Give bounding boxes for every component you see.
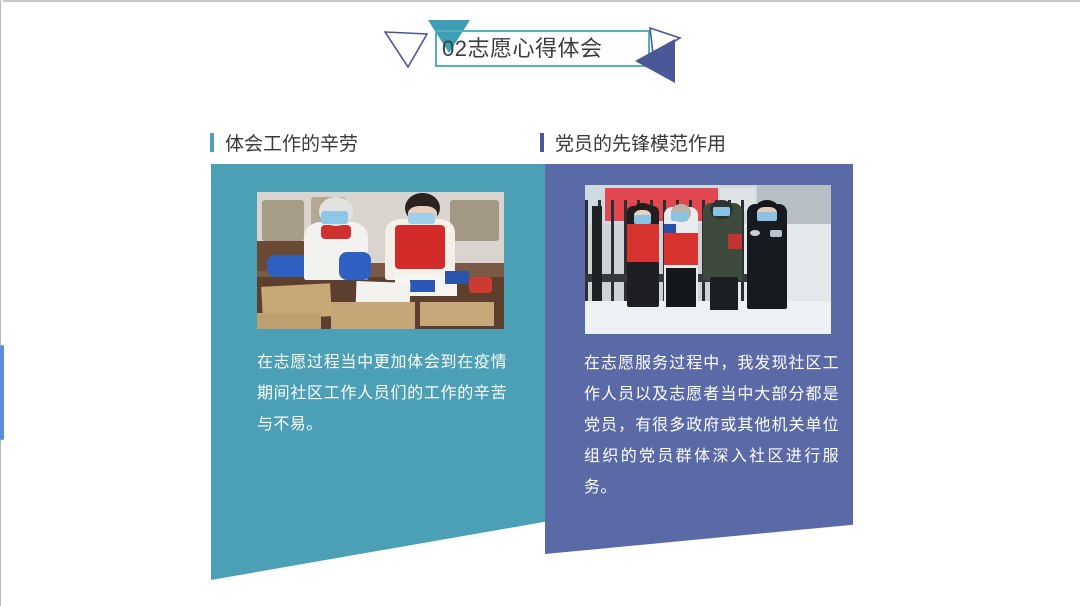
photo-right-officer-badge <box>750 230 760 236</box>
photo-right-snow-ground <box>585 301 831 334</box>
triangle-outline-left-icon <box>384 30 428 68</box>
photo-right-person-legs <box>710 277 737 310</box>
photo-left <box>257 192 504 329</box>
photo-left-document <box>331 302 415 329</box>
photo-left-person-mask <box>408 213 435 224</box>
column-heading-right-label: 党员的先锋模范作用 <box>555 129 726 156</box>
column-heading-left: 体会工作的辛劳 <box>210 129 358 156</box>
photo-right-officer-mask <box>757 212 777 221</box>
photo-right-person-mask <box>634 215 651 224</box>
photo-right-person-legs <box>666 268 696 307</box>
photo-left-object <box>469 277 491 293</box>
content-panel-right: 在志愿服务过程中，我发现社区工作人员以及志愿者当中大部分都是党员，有很多政府或其… <box>545 164 853 554</box>
photo-left-chair <box>262 200 304 241</box>
content-panel-left: 在志愿过程当中更加体会到在疫情期间社区工作人员们的工作的辛苦与不易。 <box>211 164 545 580</box>
photo-left-chair <box>450 200 499 241</box>
photo-left-document <box>410 280 435 292</box>
photo-right-person-mask <box>671 212 688 221</box>
body-text-right: 在志愿服务过程中，我发现社区工作人员以及志愿者当中大部分都是党员，有很多政府或其… <box>584 348 839 503</box>
window-top-edge <box>0 0 1080 2</box>
photo-left-document <box>257 313 321 329</box>
photo-left-person-vest <box>395 225 444 269</box>
photo-right-person-vest <box>664 233 698 266</box>
scrollbar-thumb[interactable] <box>0 345 4 440</box>
photo-right-person-armband <box>728 234 743 249</box>
photo-left-person-jacket-accent <box>321 225 351 239</box>
column-heading-right: 党员的先锋模范作用 <box>540 129 726 156</box>
slide-canvas: 02志愿心得体会 体会工作的辛劳 党员的先锋模范作用 <box>0 0 1080 606</box>
photo-right-officer-badge <box>770 230 782 237</box>
heading-accent-bar-left <box>210 133 214 152</box>
column-heading-left-label: 体会工作的辛劳 <box>225 129 358 156</box>
photo-left-document <box>420 302 494 327</box>
body-text-left: 在志愿过程当中更加体会到在疫情期间社区工作人员们的工作的辛苦与不易。 <box>257 347 507 440</box>
slide-header: 02志愿心得体会 <box>380 8 700 80</box>
heading-accent-bar-right <box>540 133 544 152</box>
photo-left-person-arm <box>339 252 371 279</box>
photo-left-document <box>445 271 470 283</box>
photo-right-person-vest <box>627 224 659 263</box>
photo-right-person-mask <box>713 207 730 216</box>
photo-right-fence-post <box>592 206 602 304</box>
triangle-solid-left-icon <box>635 39 675 83</box>
page-title: 02志愿心得体会 <box>442 35 652 63</box>
window-left-edge <box>0 0 3 606</box>
photo-right <box>585 185 831 334</box>
photo-left-person-mask <box>321 211 348 223</box>
